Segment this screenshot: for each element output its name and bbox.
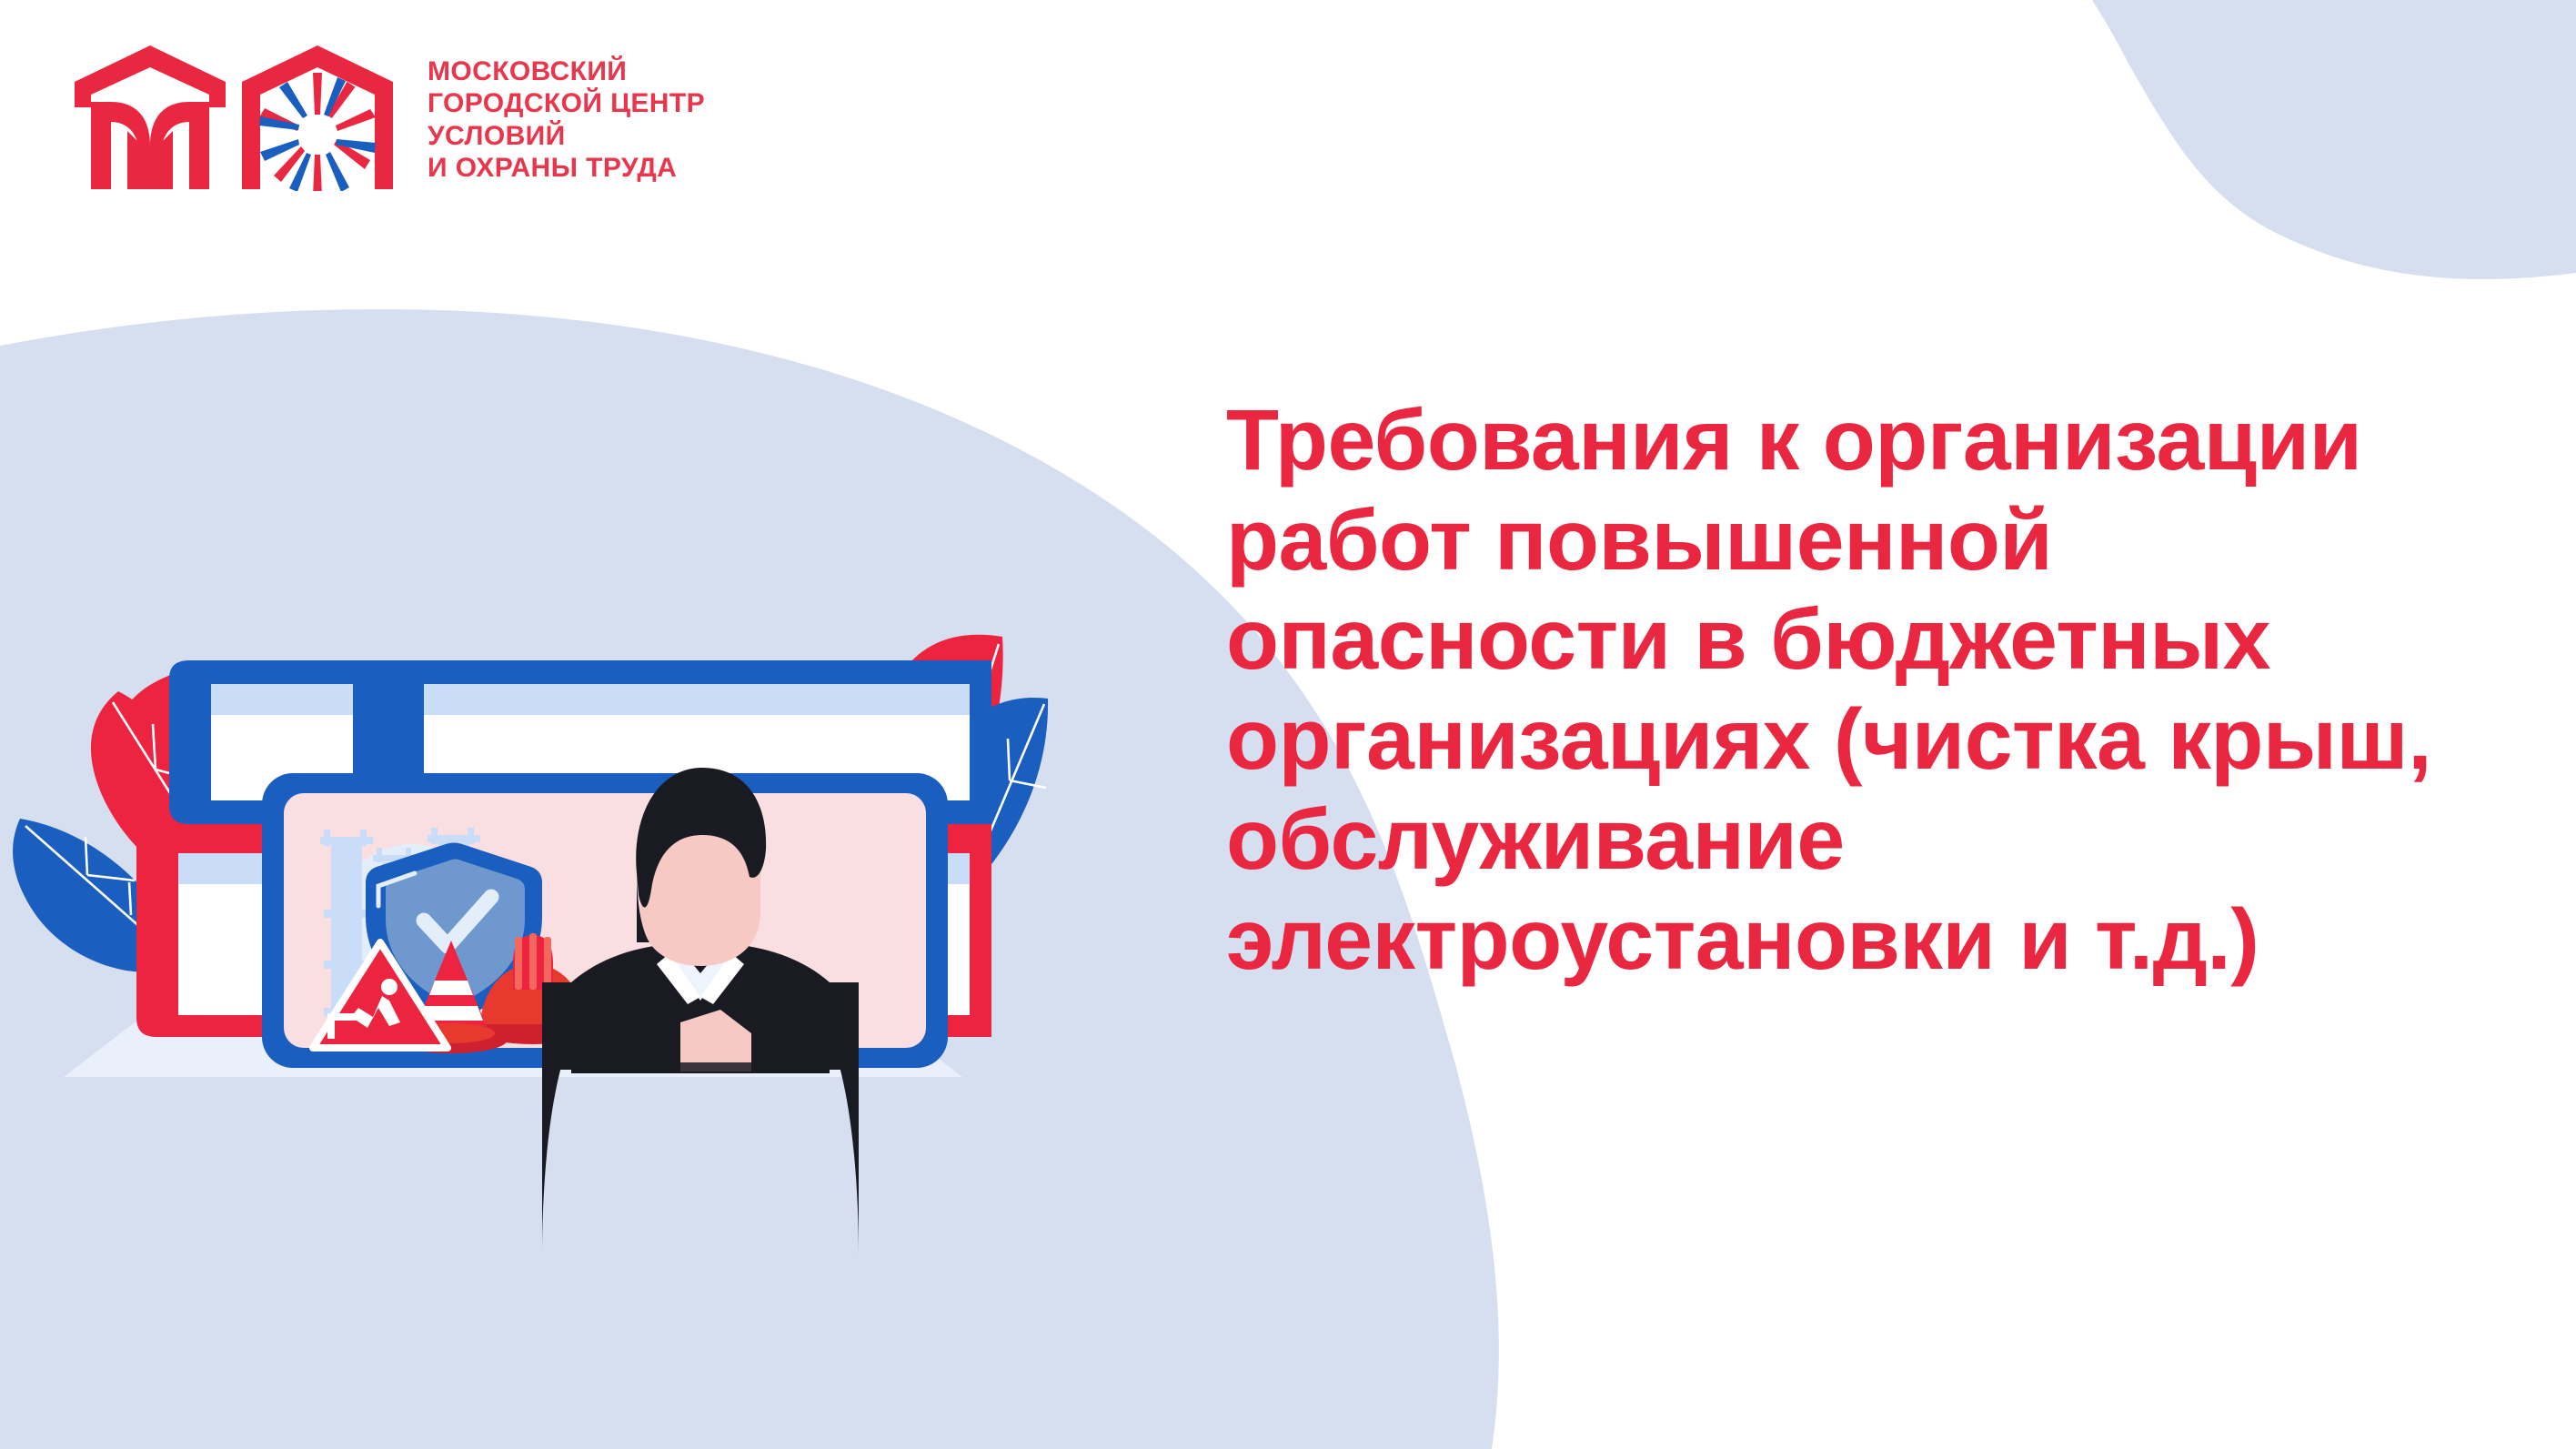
logo-line-3: УСЛОВИЙ [428, 121, 705, 152]
logo-line-4: И ОХРАНЫ ТРУДА [428, 153, 705, 184]
title-line-3: опасности в бюджетных [1226, 590, 2500, 690]
title-line-6: электроустановки и т.д.) [1226, 891, 2500, 991]
logo-line-1: МОСКОВСКИЙ [428, 56, 705, 87]
logo-line-2: ГОРОДСКОЙ ЦЕНТР [428, 88, 705, 119]
title-line-5: обслуживание [1226, 790, 2500, 891]
logo-text-block: МОСКОВСКИЙ ГОРОДСКОЙ ЦЕНТР УСЛОВИЙ И ОХР… [428, 56, 705, 184]
logo-marks [73, 44, 395, 191]
sunburst-house-emblem [240, 44, 395, 191]
m-house-emblem [73, 44, 227, 191]
page-title: Требования к организации работ повышенно… [1226, 391, 2500, 990]
slide-canvas: МОСКОВСКИЙ ГОРОДСКОЙ ЦЕНТР УСЛОВИЙ И ОХР… [0, 0, 2576, 1449]
title-line-1: Требования к организации [1226, 391, 2500, 491]
title-line-2: работ повышенной [1226, 491, 2500, 591]
title-line-4: организациях (чистка крыш, [1226, 690, 2500, 790]
organization-logo[interactable]: МОСКОВСКИЙ ГОРОДСКОЙ ЦЕНТР УСЛОВИЙ И ОХР… [73, 44, 705, 191]
